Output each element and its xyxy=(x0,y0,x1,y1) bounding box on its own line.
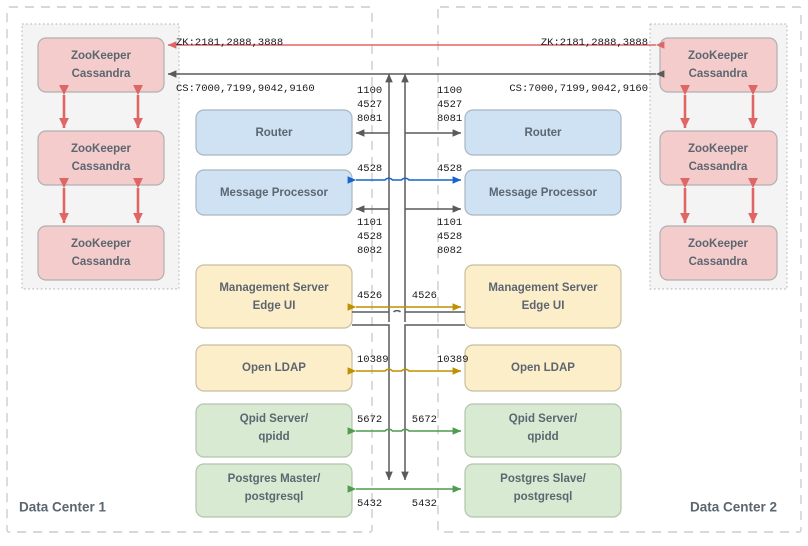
node-label-line1: ZooKeeper xyxy=(688,238,749,250)
node-label-line1: Message Processor xyxy=(489,187,598,199)
node-label-line1: Postgres Slave/ xyxy=(500,473,586,485)
mp-below-right-port-2: 4528 xyxy=(437,231,462,243)
dc2-message-processor[interactable]: Message Processor xyxy=(465,170,621,215)
node-label-line2: Cassandra xyxy=(72,68,131,80)
dc1-zk-node-2[interactable]: ZooKeeper Cassandra xyxy=(38,131,164,185)
node-label-line1: ZooKeeper xyxy=(71,238,132,250)
node-label-line2: Cassandra xyxy=(689,161,748,173)
node-label-line2: postgresql xyxy=(245,491,304,503)
node-label-line2: Edge UI xyxy=(253,300,296,312)
mp-right-port-label: 4528 xyxy=(437,163,462,175)
zk-left-port-label: ZK:2181,2888,3888 xyxy=(176,37,283,49)
dc2-router[interactable]: Router xyxy=(465,110,621,155)
data-center-1-label: Data Center 1 xyxy=(19,500,107,515)
router-left-port-1: 1100 xyxy=(357,85,382,97)
mp-below-left-port-1: 1101 xyxy=(357,217,382,229)
router-right-port-1: 1100 xyxy=(437,85,462,97)
zk-right-port-label: ZK:2181,2888,3888 xyxy=(541,37,648,49)
diagram-canvas: Data Center 1 Data Center 2 ZooKeeper Ca… xyxy=(0,0,808,546)
dc1-qpid[interactable]: Qpid Server/ qpidd xyxy=(196,404,352,457)
ldap-right-port-label: 10389 xyxy=(437,354,469,366)
node-label-line1: Management Server xyxy=(219,282,329,294)
node-label-line2: qpidd xyxy=(527,431,558,443)
dc2-management-server[interactable]: Management Server Edge UI xyxy=(465,265,621,328)
mp-below-right-port-1: 1101 xyxy=(437,217,462,229)
ms-left-port-label: 4526 xyxy=(357,290,382,302)
dc2-qpid[interactable]: Qpid Server/ qpidd xyxy=(465,404,621,457)
dc2-open-ldap[interactable]: Open LDAP xyxy=(465,345,621,391)
pg-right-port-label: 5432 xyxy=(412,498,437,510)
node-label-line1: Qpid Server/ xyxy=(509,413,578,425)
architecture-diagram: Data Center 1 Data Center 2 ZooKeeper Ca… xyxy=(0,0,808,546)
node-label-line1: Message Processor xyxy=(220,187,329,199)
node-label-line1: Qpid Server/ xyxy=(240,413,309,425)
ms-right-port-label: 4526 xyxy=(412,290,437,302)
node-label-line1: ZooKeeper xyxy=(688,143,749,155)
qpid-right-port-label: 5672 xyxy=(412,414,437,426)
node-label-line2: Cassandra xyxy=(689,256,748,268)
trunk-hop-arc xyxy=(394,311,401,312)
mp-left-port-label: 4528 xyxy=(357,163,382,175)
node-label-line2: Cassandra xyxy=(689,68,748,80)
router-right-port-2: 4527 xyxy=(437,99,462,111)
pg-left-port-label: 5432 xyxy=(357,498,382,510)
node-label-line1: Open LDAP xyxy=(242,362,306,374)
dc1-ms-down-trunk xyxy=(352,325,389,480)
dc2-postgres[interactable]: Postgres Slave/ postgresql xyxy=(465,464,621,517)
dc2-zk-node-3[interactable]: ZooKeeper Cassandra xyxy=(660,226,777,280)
dc1-management-server[interactable]: Management Server Edge UI xyxy=(196,265,352,328)
dc1-zk-node-3[interactable]: ZooKeeper Cassandra xyxy=(38,226,164,280)
dc1-zk-node-1[interactable]: ZooKeeper Cassandra xyxy=(38,38,164,92)
node-label-line2: Edge UI xyxy=(522,300,565,312)
mp-below-left-port-2: 4528 xyxy=(357,231,382,243)
dc2-ms-down-trunk xyxy=(405,325,465,480)
mp-below-right-port-3: 8082 xyxy=(437,245,462,257)
cs-right-port-label: CS:7000,7199,9042,9160 xyxy=(509,83,648,95)
cs-left-port-label: CS:7000,7199,9042,9160 xyxy=(176,83,315,95)
node-label-line1: ZooKeeper xyxy=(71,50,132,62)
node-label-line2: Cassandra xyxy=(72,161,131,173)
node-label-line1: Management Server xyxy=(488,282,598,294)
dc2-zk-node-2[interactable]: ZooKeeper Cassandra xyxy=(660,131,777,185)
router-left-port-3: 8081 xyxy=(357,113,382,125)
node-label-line2: postgresql xyxy=(514,491,573,503)
node-label-line1: ZooKeeper xyxy=(71,143,132,155)
node-label-line1: Postgres Master/ xyxy=(228,473,321,485)
data-center-2-label: Data Center 2 xyxy=(690,500,777,515)
dc1-router[interactable]: Router xyxy=(196,110,352,155)
dc2-zk-node-1[interactable]: ZooKeeper Cassandra xyxy=(660,38,777,92)
node-label-line1: Router xyxy=(255,127,293,139)
router-right-port-3: 8081 xyxy=(437,113,462,125)
node-label-line1: ZooKeeper xyxy=(688,50,749,62)
node-label-line1: Router xyxy=(524,127,562,139)
qpid-left-port-label: 5672 xyxy=(357,414,382,426)
dc1-open-ldap[interactable]: Open LDAP xyxy=(196,345,352,391)
router-left-port-2: 4527 xyxy=(357,99,382,111)
node-label-line1: Open LDAP xyxy=(511,362,575,374)
dc1-message-processor[interactable]: Message Processor xyxy=(196,170,352,215)
dc1-postgres[interactable]: Postgres Master/ postgresql xyxy=(196,464,352,517)
ldap-left-port-label: 10389 xyxy=(357,354,389,366)
node-label-line2: qpidd xyxy=(258,431,289,443)
node-label-line2: Cassandra xyxy=(72,256,131,268)
mp-below-left-port-3: 8082 xyxy=(357,245,382,257)
